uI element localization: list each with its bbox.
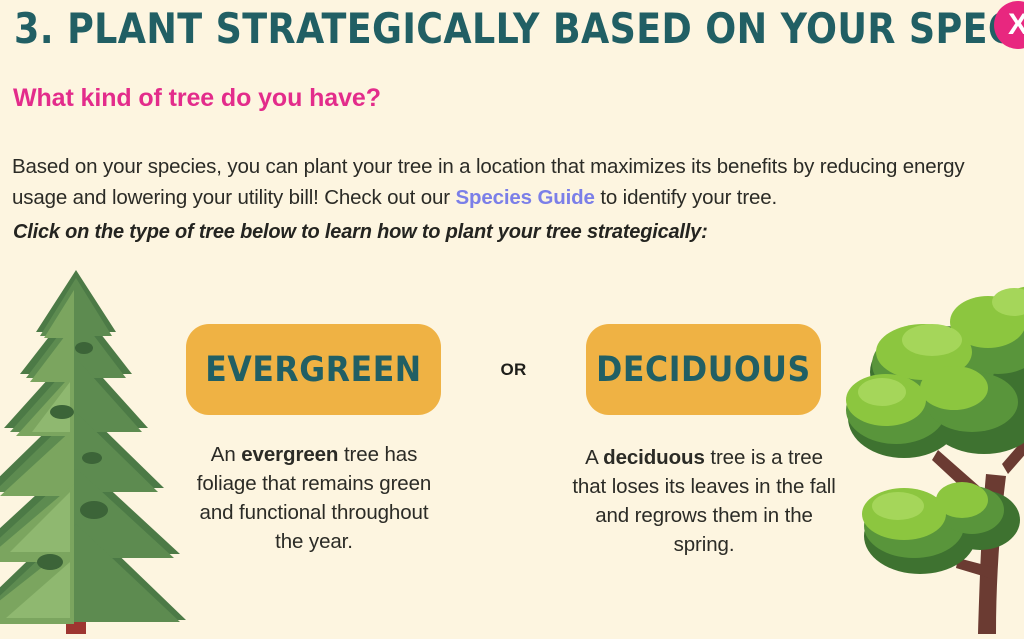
intro-paragraph: Based on your species, you can plant you…: [12, 151, 1014, 213]
species-guide-link[interactable]: Species Guide: [455, 186, 594, 209]
click-instruction: Click on the type of tree below to learn…: [13, 218, 708, 246]
close-icon: X: [994, 1, 1024, 49]
page-title: 3. PLANT STRATEGICALLY BASED ON YOUR SPE…: [14, 2, 1024, 56]
evergreen-tree-illustration: [0, 262, 186, 634]
evergreen-desc-lead: An: [211, 443, 241, 466]
tree-type-choice-row: EVERGREEN OR DECIDUOUS: [186, 324, 821, 415]
evergreen-button[interactable]: EVERGREEN: [186, 324, 441, 415]
deciduous-button[interactable]: DECIDUOUS: [586, 324, 821, 415]
or-separator-label: OR: [500, 360, 526, 380]
deciduous-desc-lead: A: [585, 446, 603, 469]
deciduous-description: A deciduous tree is a tree that loses it…: [570, 443, 838, 559]
evergreen-desc-term: evergreen: [241, 443, 338, 466]
close-button[interactable]: X: [994, 1, 1024, 49]
deciduous-desc-term: deciduous: [603, 446, 705, 469]
deciduous-tree-illustration: [846, 268, 1024, 634]
section-subheading: What kind of tree do you have?: [13, 82, 381, 114]
evergreen-description: An evergreen tree has foliage that remai…: [184, 440, 444, 556]
intro-text-after-link: to identify your tree.: [595, 186, 777, 209]
